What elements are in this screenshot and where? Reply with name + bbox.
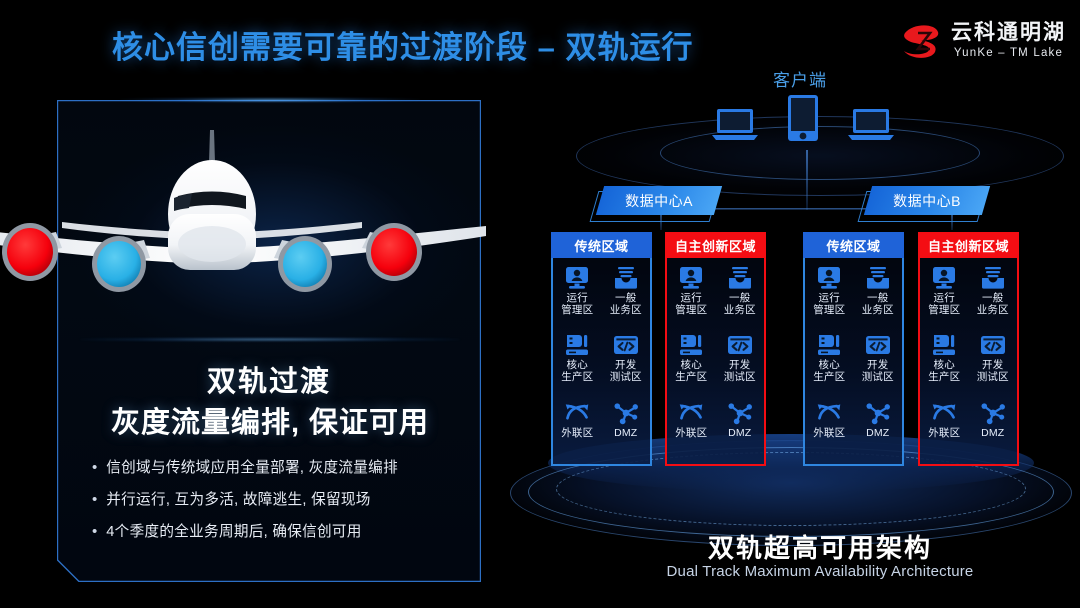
zone-cell[interactable]: 运行 管理区 <box>553 262 602 329</box>
zone-cell[interactable]: 运行 管理区 <box>805 262 854 329</box>
zone-dc-a-traditional[interactable]: 传统区域 运行 管理区一般 业务区核心 生产区开发 测试区外联区DMZ <box>551 232 652 466</box>
zone-cell-label: 核心 生产区 <box>561 359 593 383</box>
zone-dc-a-innovation[interactable]: 自主创新区域 运行 管理区一般 业务区核心 生产区开发 测试区外联区DMZ <box>665 232 766 466</box>
zone-dc-b-traditional[interactable]: 传统区域 运行 管理区一般 业务区核心 生产区开发 测试区外联区DMZ <box>803 232 904 466</box>
network-nodes-icon <box>613 401 639 425</box>
slide-root: 核心信创需要可靠的过渡阶段 – 双轨运行 云科通明湖 YunKe – TM La… <box>0 0 1080 608</box>
network-nodes-icon <box>865 401 891 425</box>
zone-cell[interactable]: DMZ <box>602 397 651 464</box>
bullet-dot-icon: • <box>92 522 97 542</box>
list-item: • 并行运行, 互为多活, 故障逃生, 保留现场 <box>92 490 472 510</box>
engine-outer-left <box>2 223 58 281</box>
zone-cell-label: 一般 业务区 <box>724 292 756 316</box>
user-monitor-icon <box>678 266 704 290</box>
zone-title: 传统区域 <box>803 232 904 258</box>
zone-cell-label: 运行 管理区 <box>813 292 845 316</box>
panel-top-glow <box>120 98 420 102</box>
user-monitor-icon <box>816 266 842 290</box>
inbox-tray-icon <box>980 266 1006 290</box>
zone-cell-label: 核心 生产区 <box>675 359 707 383</box>
zone-cell[interactable]: 开发 测试区 <box>602 329 651 396</box>
zone-cell-label: DMZ <box>981 427 1004 439</box>
crossing-arrows-icon <box>816 401 842 425</box>
zone-cell-label: 核心 生产区 <box>813 359 845 383</box>
crossing-arrows-icon <box>564 401 590 425</box>
zone-cell[interactable]: 运行 管理区 <box>667 262 716 329</box>
bullet-text: 4个季度的全业务周期后, 确保信创可用 <box>106 522 361 542</box>
zone-cell[interactable]: 外联区 <box>805 397 854 464</box>
zone-cell-label: 运行 管理区 <box>675 292 707 316</box>
zone-cell-label: 运行 管理区 <box>561 292 593 316</box>
laptop-icon <box>848 107 894 146</box>
zone-cell-label: DMZ <box>614 427 637 439</box>
zone-cell-label: 核心 生产区 <box>928 359 960 383</box>
banner-label: 数据中心B <box>868 186 986 215</box>
bullet-dot-icon: • <box>92 490 97 510</box>
zone-cell-label: 一般 业务区 <box>862 292 894 316</box>
zone-cell-label: 开发 测试区 <box>610 359 642 383</box>
logo-name-cn: 云科通明湖 <box>951 22 1066 43</box>
zone-cell-label: 一般 业务区 <box>977 292 1009 316</box>
panel-mid-glow <box>80 338 460 341</box>
network-nodes-icon <box>727 401 753 425</box>
bullet-text: 信创域与传统域应用全量部署, 灰度流量编排 <box>106 458 398 478</box>
zone-cell[interactable]: 一般 业务区 <box>854 262 903 329</box>
inbox-tray-icon <box>613 266 639 290</box>
zone-cell-label: 外联区 <box>928 427 960 439</box>
zone-cell[interactable]: DMZ <box>969 397 1018 464</box>
zone-cell[interactable]: 开发 测试区 <box>716 329 765 396</box>
inbox-tray-icon <box>865 266 891 290</box>
zone-dc-b-innovation[interactable]: 自主创新区域 运行 管理区一般 业务区核心 生产区开发 测试区外联区DMZ <box>918 232 1019 466</box>
airplane-illustration <box>0 118 486 298</box>
zone-cell[interactable]: 核心 生产区 <box>920 329 969 396</box>
zone-cell[interactable]: 开发 测试区 <box>854 329 903 396</box>
client-device-group <box>712 96 894 146</box>
zone-cell[interactable]: 一般 业务区 <box>602 262 651 329</box>
zone-cell[interactable]: 开发 测试区 <box>969 329 1018 396</box>
left-headline-secondary: 灰度流量编排, 保证可用 <box>45 399 495 441</box>
code-brackets-icon <box>980 333 1006 357</box>
datacenter-banner-a[interactable]: 数据中心A <box>600 186 718 215</box>
user-monitor-icon <box>931 266 957 290</box>
left-headline-primary: 双轨过渡 <box>57 358 481 400</box>
zone-cell-grid: 运行 管理区一般 业务区核心 生产区开发 测试区外联区DMZ <box>665 258 766 466</box>
swoosh-logo-icon <box>899 19 943 63</box>
zone-cell-label: 外联区 <box>675 427 707 439</box>
zone-title: 自主创新区域 <box>665 232 766 258</box>
engine-outer-right <box>366 223 422 281</box>
zone-cell[interactable]: DMZ <box>716 397 765 464</box>
laptop-icon <box>712 107 758 146</box>
zone-cell[interactable]: 外联区 <box>920 397 969 464</box>
crossing-arrows-icon <box>931 401 957 425</box>
zone-cell[interactable]: 运行 管理区 <box>920 262 969 329</box>
zone-cell-label: 开发 测试区 <box>977 359 1009 383</box>
engine-inner-left <box>92 236 146 292</box>
zone-cell[interactable]: 核心 生产区 <box>553 329 602 396</box>
zone-cell-label: 运行 管理区 <box>928 292 960 316</box>
logo-name-en: YunKe – TM Lake <box>951 48 1066 60</box>
server-stack-icon <box>816 333 842 357</box>
zone-cell-grid: 运行 管理区一般 业务区核心 生产区开发 测试区外联区DMZ <box>918 258 1019 466</box>
code-brackets-icon <box>613 333 639 357</box>
zone-cell-label: 开发 测试区 <box>862 359 894 383</box>
zone-cell-label: 一般 业务区 <box>610 292 642 316</box>
code-brackets-icon <box>727 333 753 357</box>
architecture-title-cn: 双轨超高可用架构 <box>620 528 1020 565</box>
zone-cell-label: 外联区 <box>561 427 593 439</box>
server-stack-icon <box>931 333 957 357</box>
zone-cell-grid: 运行 管理区一般 业务区核心 生产区开发 测试区外联区DMZ <box>803 258 904 466</box>
bullet-text: 并行运行, 互为多活, 故障逃生, 保留现场 <box>106 490 370 510</box>
architecture-title-en: Dual Track Maximum Availability Architec… <box>620 563 1020 580</box>
zone-cell-label: DMZ <box>866 427 889 439</box>
zone-cell-grid: 运行 管理区一般 业务区核心 生产区开发 测试区外联区DMZ <box>551 258 652 466</box>
network-nodes-icon <box>980 401 1006 425</box>
tablet-icon <box>788 95 818 146</box>
zone-title: 自主创新区域 <box>918 232 1019 258</box>
connector-vertical-center <box>806 150 808 210</box>
user-monitor-icon <box>564 266 590 290</box>
code-brackets-icon <box>865 333 891 357</box>
server-stack-icon <box>678 333 704 357</box>
inbox-tray-icon <box>727 266 753 290</box>
logo-text-block: 云科通明湖 YunKe – TM Lake <box>951 22 1066 60</box>
zone-cell[interactable]: 核心 生产区 <box>805 329 854 396</box>
client-tier-label: 客户端 <box>740 66 860 91</box>
datacenter-banner-b[interactable]: 数据中心B <box>868 186 986 215</box>
list-item: • 信创域与传统域应用全量部署, 灰度流量编排 <box>92 458 472 478</box>
left-bullet-list: • 信创域与传统域应用全量部署, 灰度流量编排 • 并行运行, 互为多活, 故障… <box>92 458 472 554</box>
banner-label: 数据中心A <box>600 186 718 215</box>
zone-cell-label: 外联区 <box>813 427 845 439</box>
zone-cell-label: DMZ <box>728 427 751 439</box>
zone-cell[interactable]: DMZ <box>854 397 903 464</box>
zone-title: 传统区域 <box>551 232 652 258</box>
zone-cell[interactable]: 一般 业务区 <box>969 262 1018 329</box>
brand-logo: 云科通明湖 YunKe – TM Lake <box>899 16 1066 66</box>
zone-cell-label: 开发 测试区 <box>724 359 756 383</box>
zone-cell[interactable]: 外联区 <box>667 397 716 464</box>
page-title: 核心信创需要可靠的过渡阶段 – 双轨运行 <box>112 22 693 67</box>
engine-inner-right <box>278 236 332 292</box>
zone-cell[interactable]: 一般 业务区 <box>716 262 765 329</box>
zone-cell[interactable]: 外联区 <box>553 397 602 464</box>
bullet-dot-icon: • <box>92 458 97 478</box>
crossing-arrows-icon <box>678 401 704 425</box>
list-item: • 4个季度的全业务周期后, 确保信创可用 <box>92 522 472 542</box>
zone-cell[interactable]: 核心 生产区 <box>667 329 716 396</box>
server-stack-icon <box>564 333 590 357</box>
